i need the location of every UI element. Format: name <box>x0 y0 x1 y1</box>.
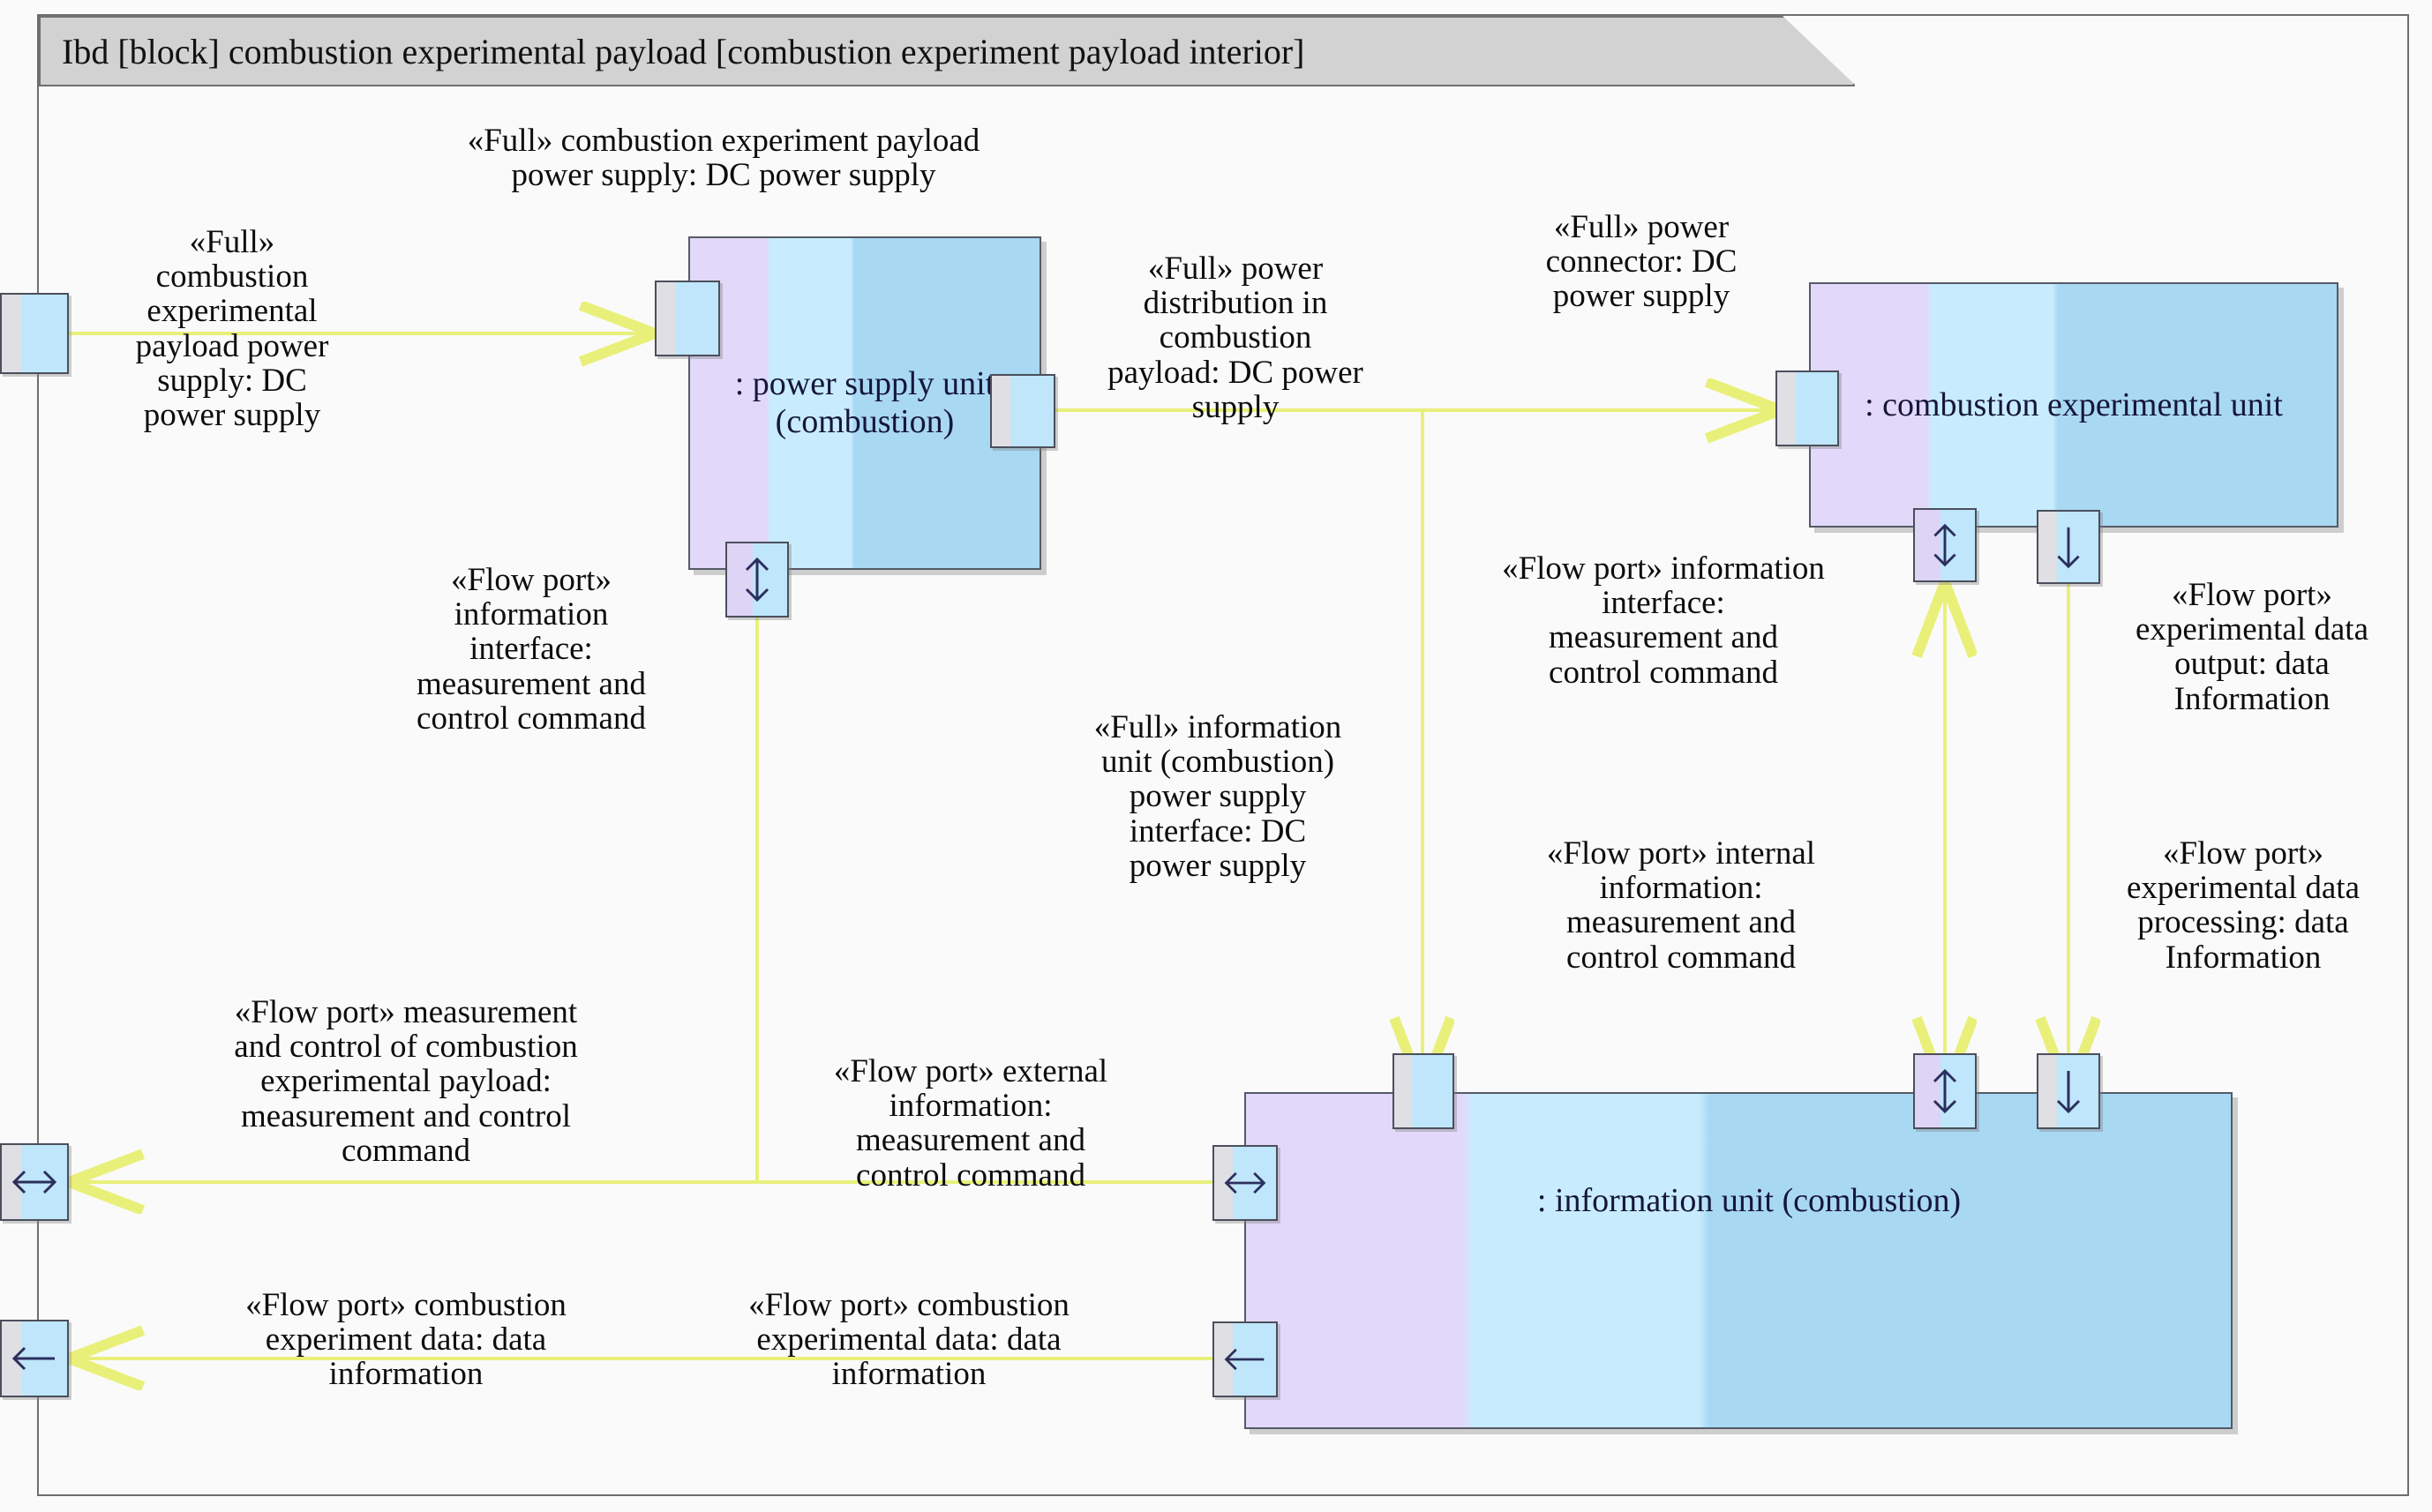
port-ceu-data-out[interactable] <box>2037 510 2100 584</box>
port-plain-icon <box>1807 408 1808 409</box>
label-flow-experimental-data-processing: «Flow port» experimental data processing… <box>2058 836 2428 975</box>
label-full-power-distribution: «Full» power distribution in combustion … <box>1024 251 1447 424</box>
arrow-down-icon <box>2053 1066 2083 1117</box>
arrow-left-right-icon <box>9 1167 60 1197</box>
arrow-left-icon <box>9 1344 60 1374</box>
label-flow-information-interface-right: «Flow port» information interface: measu… <box>1403 551 1924 690</box>
arrow-down-icon <box>2053 522 2083 572</box>
port-psu-power-in[interactable] <box>655 281 720 356</box>
diagram-title-tab: Ibd [block] combustion experimental payl… <box>39 16 1855 86</box>
port-iu-data-in[interactable] <box>2037 1053 2100 1129</box>
label-full-payload-power-supply: «Full» combustion experiment payload pow… <box>327 124 1121 192</box>
label-flow-measurement-control-payload: «Flow port» measurement and control of c… <box>124 995 688 1168</box>
port-plain-icon <box>1423 1091 1424 1092</box>
port-frame-measurement-control[interactable] <box>0 1143 69 1221</box>
port-iu-power-in[interactable] <box>1392 1053 1454 1129</box>
part-combustion-experimental-unit-label: : combustion experimental unit <box>1856 386 2292 424</box>
part-combustion-experimental-unit[interactable]: : combustion experimental unit <box>1809 282 2338 528</box>
arrow-left-right-icon <box>1221 1168 1269 1198</box>
label-full-information-unit-power: «Full» information unit (combustion) pow… <box>1024 710 1412 883</box>
part-information-unit-label: : information unit (combustion) <box>1246 1182 2252 1220</box>
port-iu-internal-information[interactable] <box>1913 1053 1977 1129</box>
part-power-supply-unit[interactable]: : power supply unit (combustion) <box>688 236 1041 570</box>
label-flow-experimental-data-output: «Flow port» experimental data output: da… <box>2075 578 2428 716</box>
port-ceu-power-in[interactable] <box>1775 371 1839 446</box>
label-flow-external-information: «Flow port» external information: measur… <box>768 1054 1174 1193</box>
port-iu-data-out[interactable] <box>1212 1321 1278 1397</box>
port-plain-icon <box>687 318 688 319</box>
page-title: Ibd [block] combustion experimental payl… <box>62 31 1304 72</box>
port-frame-data-out[interactable] <box>0 1320 69 1397</box>
label-flow-combustion-experimental-data: «Flow port» combustion experimental data… <box>662 1288 1156 1392</box>
label-full-combustion-payload-power: «Full» combustion experimental payload p… <box>92 225 372 432</box>
arrow-left-icon <box>1221 1344 1269 1374</box>
diagram-canvas: Ibd [block] combustion experimental payl… <box>0 0 2432 1512</box>
port-iu-external-information[interactable] <box>1212 1145 1278 1221</box>
port-psu-information[interactable] <box>725 542 789 618</box>
label-flow-internal-information: «Flow port» internal information: measur… <box>1438 836 1924 975</box>
part-information-unit[interactable]: : information unit (combustion) <box>1244 1092 2233 1429</box>
label-full-power-connector: «Full» power connector: DC power supply <box>1465 210 1818 314</box>
arrow-up-down-icon <box>1930 520 1960 570</box>
port-plain-icon <box>34 333 35 334</box>
arrow-up-down-icon <box>1930 1066 1960 1117</box>
arrow-up-down-icon <box>742 554 772 605</box>
port-frame-power-in[interactable] <box>0 293 69 374</box>
label-flow-combustion-experiment-data: «Flow port» combustion experiment data: … <box>159 1288 653 1392</box>
part-power-supply-unit-label: : power supply unit (combustion) <box>690 365 1040 440</box>
label-flow-information-interface-left: «Flow port» information interface: measu… <box>346 563 717 736</box>
